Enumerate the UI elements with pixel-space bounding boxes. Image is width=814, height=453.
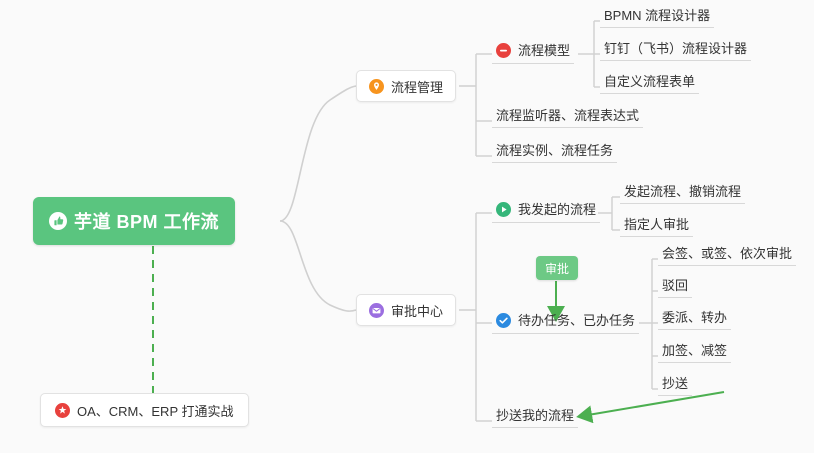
node-label: 委派、转办 <box>662 307 727 326</box>
node-label: 我发起的流程 <box>518 199 596 218</box>
star-circle-icon <box>55 403 70 418</box>
node-process-model[interactable]: 流程模型 <box>492 40 574 64</box>
thumbs-up-icon <box>49 212 67 230</box>
node-label: 流程实例、流程任务 <box>496 140 613 159</box>
node-label: 钉钉（飞书）流程设计器 <box>604 38 747 57</box>
node-custom-form[interactable]: 自定义流程表单 <box>600 74 699 94</box>
node-add-remove-sign[interactable]: 加签、减签 <box>658 343 731 363</box>
mail-circle-icon <box>369 303 384 318</box>
annotation-approval-callout: 审批 <box>536 256 578 280</box>
minus-circle-icon <box>496 43 511 58</box>
branch-process-management[interactable]: 流程管理 <box>356 70 456 102</box>
node-delegate-transfer[interactable]: 委派、转办 <box>658 310 731 330</box>
node-label: 驳回 <box>662 275 688 294</box>
node-bpmn-designer[interactable]: BPMN 流程设计器 <box>600 8 714 28</box>
branch-label: 流程管理 <box>391 77 443 96</box>
node-label: 加签、减签 <box>662 340 727 359</box>
location-pin-icon <box>369 79 384 94</box>
node-cc[interactable]: 抄送 <box>658 376 692 396</box>
root-label: 芋道 BPM 工作流 <box>74 208 219 234</box>
mindmap-canvas: 芋道 BPM 工作流 流程管理 流程模型 BPMN 流程设计器 钉钉（飞书）流程… <box>0 0 814 453</box>
annotation-label: OA、CRM、ERP 打通实战 <box>77 401 234 420</box>
node-label: 发起流程、撤销流程 <box>624 181 741 200</box>
check-circle-icon <box>496 313 511 328</box>
node-listener-expression[interactable]: 流程监听器、流程表达式 <box>492 108 643 128</box>
node-instance-task[interactable]: 流程实例、流程任务 <box>492 143 617 163</box>
root-node[interactable]: 芋道 BPM 工作流 <box>33 197 235 245</box>
node-assignee-approval[interactable]: 指定人审批 <box>620 217 693 237</box>
node-my-initiated-process[interactable]: 我发起的流程 <box>492 199 600 223</box>
node-cc-to-me[interactable]: 抄送我的流程 <box>492 408 578 428</box>
node-label: 指定人审批 <box>624 214 689 233</box>
annotation-integration-note[interactable]: OA、CRM、ERP 打通实战 <box>40 393 249 427</box>
node-label: BPMN 流程设计器 <box>604 5 710 24</box>
node-label: 抄送 <box>662 373 688 392</box>
node-label: 会签、或签、依次审批 <box>662 243 792 262</box>
branch-label: 审批中心 <box>391 301 443 320</box>
node-label: 流程监听器、流程表达式 <box>496 105 639 124</box>
node-reject[interactable]: 驳回 <box>658 278 692 298</box>
node-label: 抄送我的流程 <box>496 405 574 424</box>
annotation-label: 审批 <box>545 260 569 277</box>
play-circle-icon <box>496 202 511 217</box>
node-dingtalk-designer[interactable]: 钉钉（飞书）流程设计器 <box>600 41 751 61</box>
node-label: 待办任务、已办任务 <box>518 310 635 329</box>
branch-approval-center[interactable]: 审批中心 <box>356 294 456 326</box>
node-label: 自定义流程表单 <box>604 71 695 90</box>
node-label: 流程模型 <box>518 40 570 59</box>
node-start-cancel-process[interactable]: 发起流程、撤销流程 <box>620 184 745 204</box>
node-todo-done-tasks[interactable]: 待办任务、已办任务 <box>492 310 639 334</box>
node-countersign[interactable]: 会签、或签、依次审批 <box>658 246 796 266</box>
